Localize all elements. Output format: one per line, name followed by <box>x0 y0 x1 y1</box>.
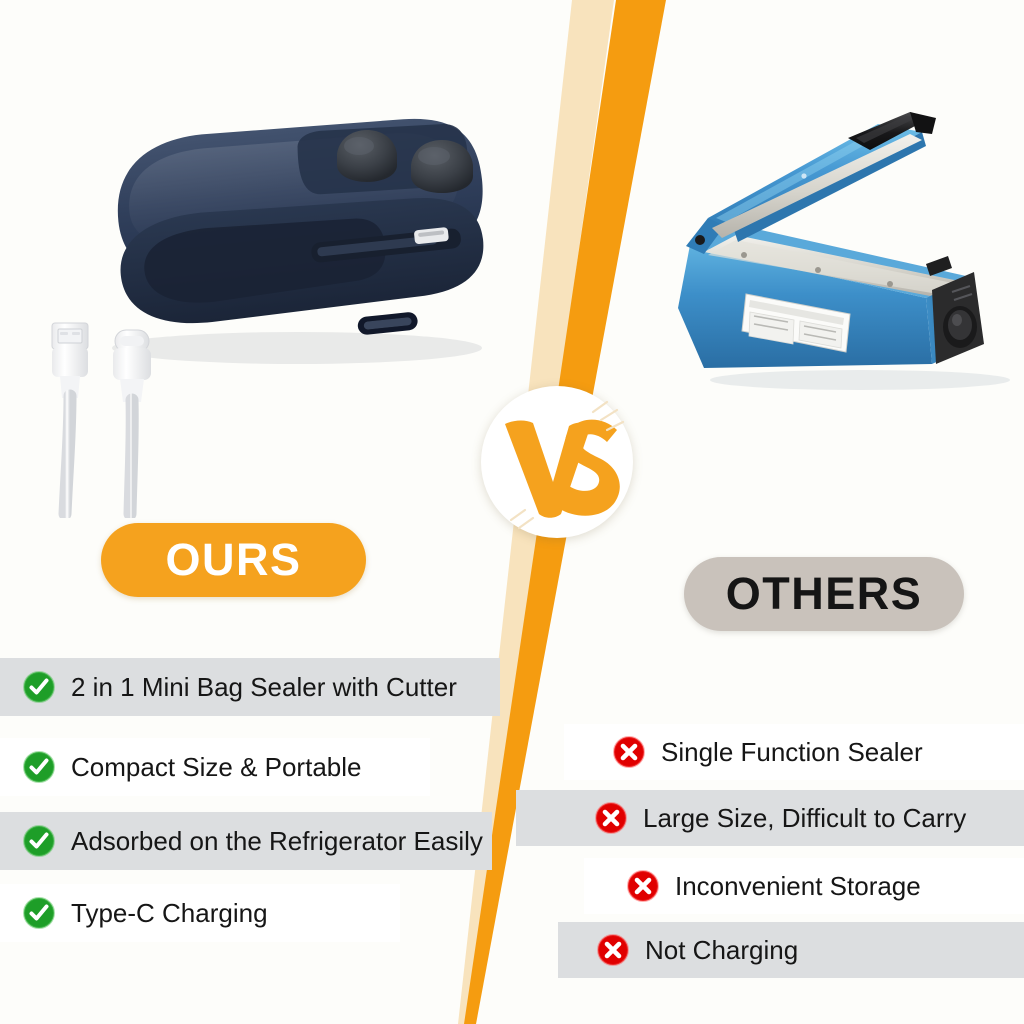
check-circle-icon <box>22 824 56 858</box>
feature-row: Inconvenient Storage <box>584 858 1024 914</box>
feature-label: Adsorbed on the Refrigerator Easily <box>71 826 483 857</box>
feature-row: Single Function Sealer <box>564 724 1024 780</box>
vs-badge <box>481 386 633 538</box>
feature-label: Large Size, Difficult to Carry <box>643 803 966 834</box>
feature-label: Inconvenient Storage <box>675 871 921 902</box>
feature-label: Not Charging <box>645 935 798 966</box>
check-circle-icon <box>22 896 56 930</box>
feature-row: 2 in 1 Mini Bag Sealer with Cutter <box>0 658 500 716</box>
usb-a-wire <box>65 396 70 514</box>
sealer-lever-arm <box>686 112 936 254</box>
comparison-infographic: OURS OTHERS 2 in 1 Mini Bag Sealer with … <box>0 0 1024 1024</box>
x-circle-icon <box>612 735 646 769</box>
others-badge: OTHERS <box>684 557 964 631</box>
x-circle-icon <box>626 869 660 903</box>
feature-label: Single Function Sealer <box>661 737 923 768</box>
usb-c-port <box>357 311 419 335</box>
feature-label: Type-C Charging <box>71 898 268 929</box>
x-circle-icon <box>594 801 628 835</box>
ours-badge-label: OURS <box>165 534 301 586</box>
feature-row: Not Charging <box>558 922 1024 978</box>
feature-row: Type-C Charging <box>0 884 400 942</box>
ours-badge: OURS <box>101 523 366 597</box>
feature-label: 2 in 1 Mini Bag Sealer with Cutter <box>71 672 457 703</box>
feature-row: Compact Size & Portable <box>0 738 430 796</box>
others-badge-label: OTHERS <box>726 568 923 620</box>
check-circle-icon <box>22 670 56 704</box>
usb-cable-image <box>34 318 184 518</box>
usb-c-connector <box>113 330 151 402</box>
impulse-heat-sealer-image <box>664 112 1020 392</box>
usb-a-connector <box>52 323 88 398</box>
usb-c-wire <box>130 400 132 514</box>
x-circle-icon <box>596 933 630 967</box>
feature-row: Large Size, Difficult to Carry <box>516 790 1024 846</box>
feature-row: Adsorbed on the Refrigerator Easily <box>0 812 492 870</box>
check-circle-icon <box>22 750 56 784</box>
feature-label: Compact Size & Portable <box>71 752 361 783</box>
